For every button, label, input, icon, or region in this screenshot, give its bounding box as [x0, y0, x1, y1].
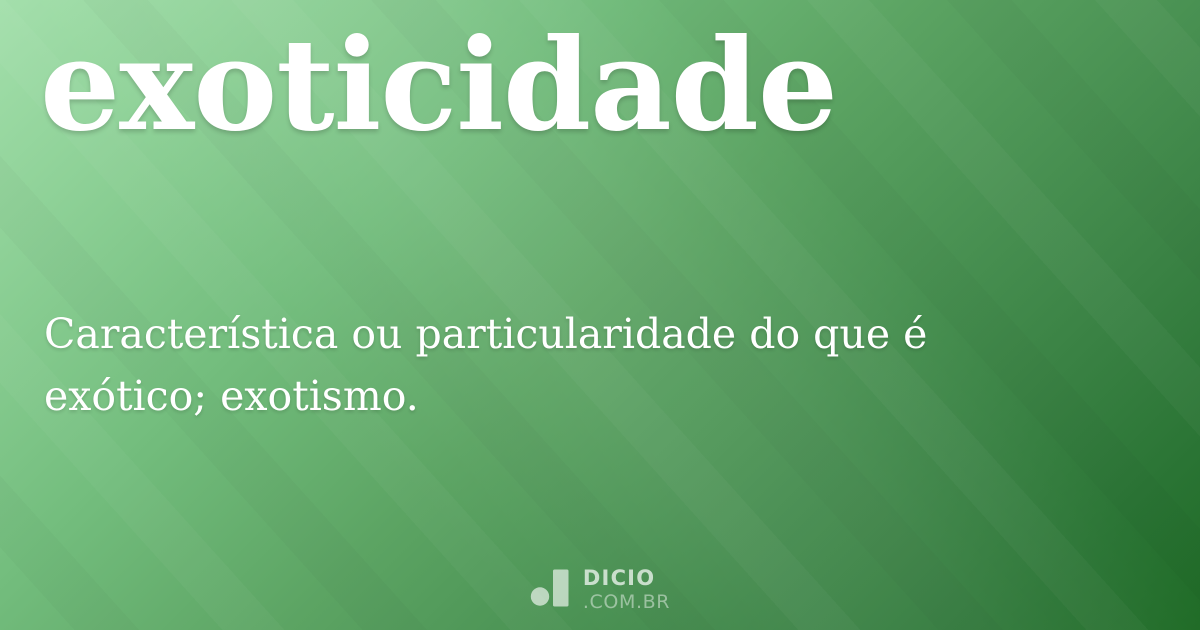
dicio-logo[interactable]: DICIO .COM.BR — [0, 567, 1200, 612]
dicio-square-dot-logo-icon — [530, 567, 570, 612]
dicio-logo-tld: .COM.BR — [583, 593, 670, 612]
word-title: exoticidade — [40, 16, 837, 154]
dicio-logo-name: DICIO — [583, 568, 670, 589]
word-definition-text: Característica ou particularidade do que… — [44, 303, 1034, 427]
card-content: exoticidade Característica ou particular… — [0, 0, 1200, 630]
dicio-logo-text: DICIO .COM.BR — [583, 568, 670, 612]
word-definition-card: exoticidade Característica ou particular… — [0, 0, 1200, 630]
